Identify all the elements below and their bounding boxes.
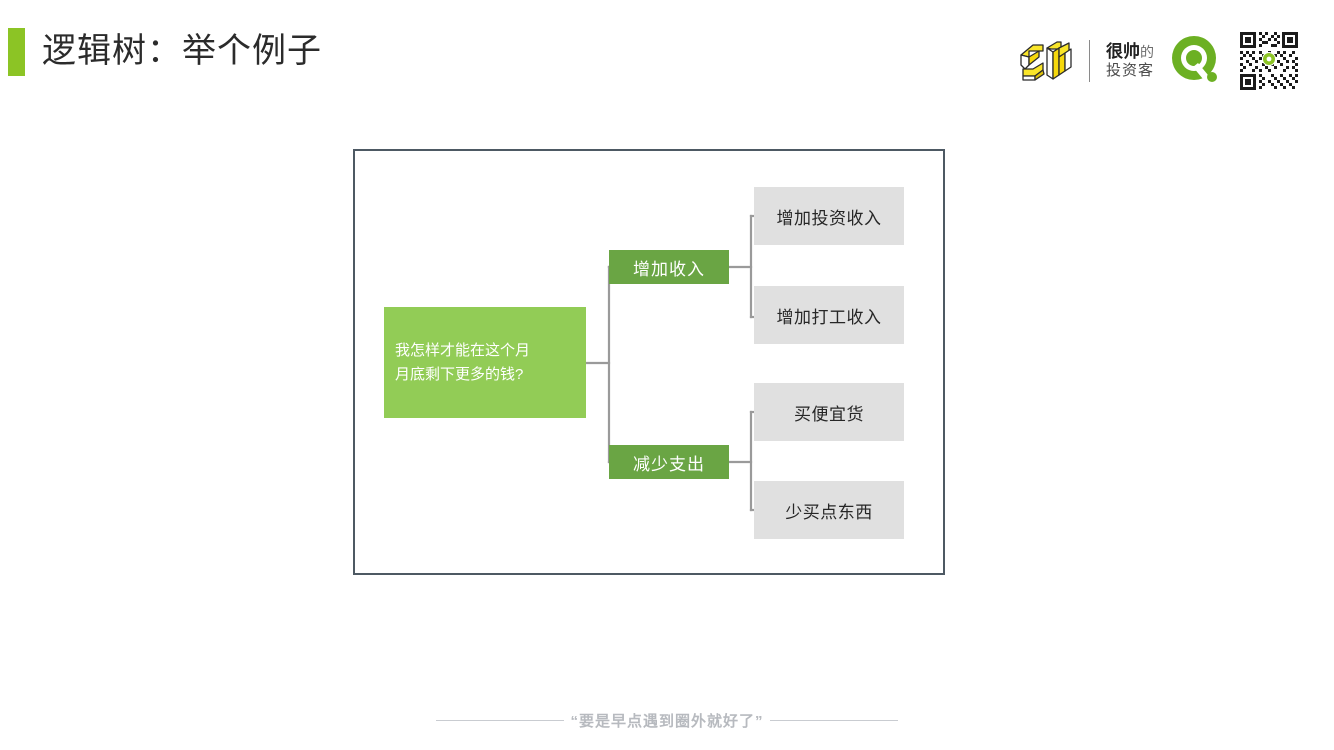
tree-node-leaf-work-income[interactable]: 增加打工收入 (754, 286, 904, 344)
qr-code-icon (1238, 30, 1300, 92)
brand-name-line2: 投资客 (1106, 62, 1154, 80)
tree-node-branch-increase-income[interactable]: 增加收入 (609, 250, 729, 284)
tree-node-leaf-investment-income[interactable]: 增加投资收入 (754, 187, 904, 245)
page-title: 逻辑树：举个例子 (42, 27, 322, 75)
page-header: 逻辑树：举个例子 很帅的 投资客 (0, 0, 1334, 110)
page-footer: “要是早点遇到圈外就好了” (0, 710, 1334, 731)
footer-rule-right (770, 720, 898, 721)
brand-divider (1089, 40, 1090, 82)
root-label-line2: 月底剩下更多的钱? (395, 366, 523, 383)
tree-node-leaf-buy-less[interactable]: 少买点东西 (754, 481, 904, 539)
footer-rule-left (436, 720, 564, 721)
brand-name-light: 的 (1140, 44, 1154, 60)
tree-node-root-label: 我怎样才能在这个月 月底剩下更多的钱? (395, 339, 530, 387)
q-circle-logo-icon (1168, 33, 1224, 89)
brand-text: 很帅的 投资客 (1106, 42, 1154, 80)
title-accent-bar (8, 28, 25, 76)
brand-name-line1: 很帅的 (1106, 42, 1154, 62)
footer-tagline: “要是早点遇到圈外就好了” (564, 710, 769, 731)
brand-name-strong: 很帅 (1106, 42, 1140, 61)
root-label-line1: 我怎样才能在这个月 (395, 342, 530, 359)
brand-cluster: 很帅的 投资客 (1013, 24, 1300, 98)
tree-node-leaf-buy-cheap[interactable]: 买便宜货 (754, 383, 904, 441)
shuai-3d-logo-icon (1013, 35, 1075, 87)
tree-node-root[interactable]: 我怎样才能在这个月 月底剩下更多的钱? (384, 307, 586, 418)
tree-node-branch-reduce-spending[interactable]: 减少支出 (609, 445, 729, 479)
